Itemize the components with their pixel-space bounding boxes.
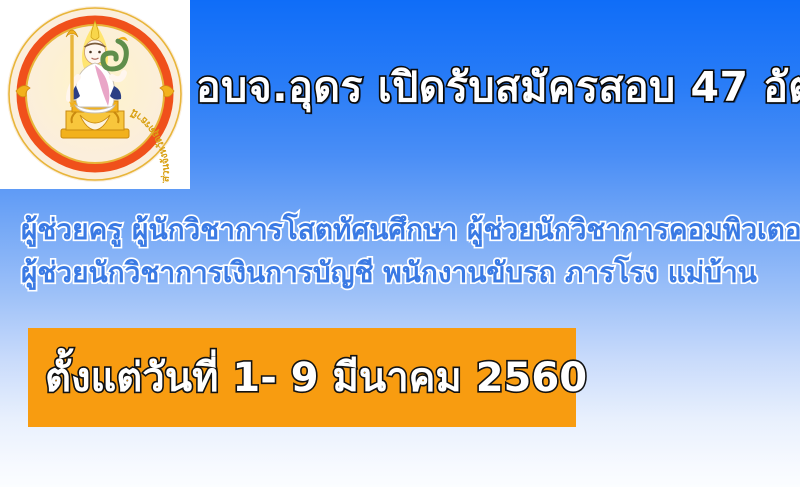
announcement-poster: องค์การบริหารส่วนจังหวัดอุดรธานี อบจ.อุด… [0, 0, 800, 487]
application-date-text: ตั้งแต่วันที่ 1- 9 มีนาคม 2560 [45, 350, 587, 406]
organization-emblem-icon: องค์การบริหารส่วนจังหวัดอุดรธานี [6, 5, 184, 183]
logo-plate: องค์การบริหารส่วนจังหวัดอุดรธานี [0, 0, 190, 189]
job-positions-list: ผู้ช่วยครู ผู้นักวิชาการโสตทัศนศึกษา ผู้… [21, 208, 783, 294]
job-line: ผู้ช่วยครู ผู้นักวิชาการโสตทัศนศึกษา ผู้… [21, 208, 783, 251]
poster-headline: อบจ.อุดร เปิดรับสมัครสอบ 47 อัตรา [196, 62, 796, 112]
job-line: ผู้ช่วยนักวิชาการเงินการบัญชี พนักงานขับ… [21, 251, 783, 294]
application-date-banner: ตั้งแต่วันที่ 1- 9 มีนาคม 2560 [28, 328, 576, 427]
